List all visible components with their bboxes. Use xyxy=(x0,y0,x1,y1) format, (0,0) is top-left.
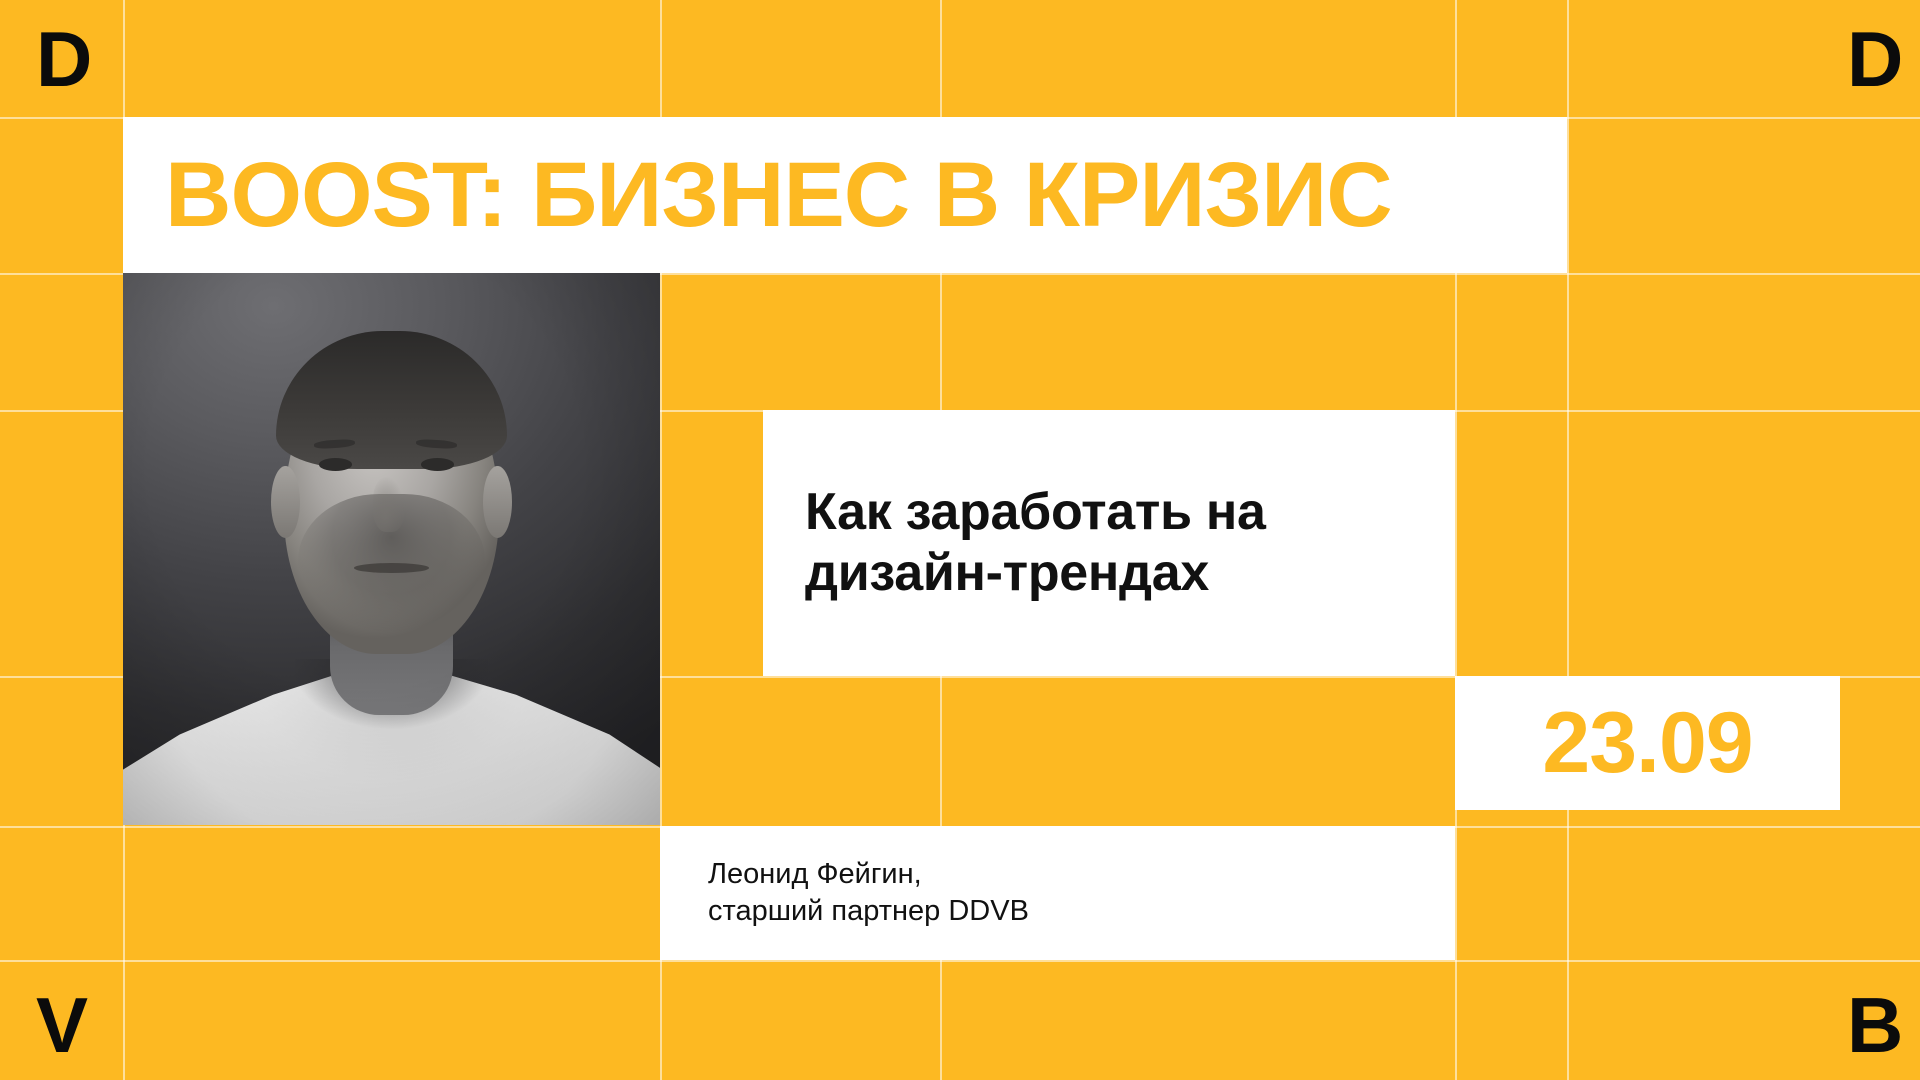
headline-box: Как заработать на дизайн-трендах xyxy=(763,410,1455,676)
speaker-portrait-photo xyxy=(123,273,660,825)
brand-letter-top-right: D xyxy=(1847,20,1901,98)
headline-text: Как заработать на дизайн-трендах xyxy=(805,482,1429,604)
brand-letter-top-left: D xyxy=(36,20,90,98)
date-box: 23.09 xyxy=(1455,676,1840,810)
event-poster: D D V B BOOST: БИЗНЕС В КРИЗИС Как зараб… xyxy=(0,0,1920,1080)
title-banner: BOOST: БИЗНЕС В КРИЗИС xyxy=(123,117,1567,273)
grid-line-vertical xyxy=(1567,0,1569,1080)
event-date: 23.09 xyxy=(1542,700,1752,786)
photo-vignette xyxy=(123,273,660,825)
brand-letter-bottom-right: B xyxy=(1847,986,1901,1064)
grid-line-horizontal xyxy=(0,960,1920,962)
poster-title: BOOST: БИЗНЕС В КРИЗИС xyxy=(165,149,1392,241)
speaker-caption-box: Леонид Фейгин, старший партнер DDVB xyxy=(660,826,1455,960)
speaker-name-and-role: Леонид Фейгин, старший партнер DDVB xyxy=(708,856,1029,930)
brand-letter-bottom-left: V xyxy=(36,986,86,1064)
